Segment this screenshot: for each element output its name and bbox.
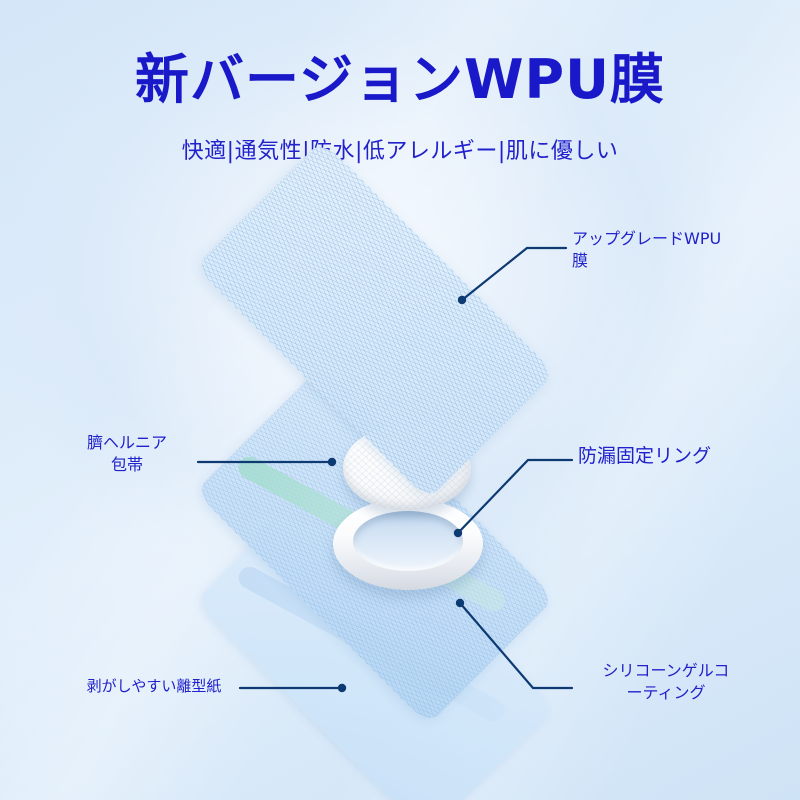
callout-label-hernia: 臍ヘルニア 包帯 <box>62 432 192 476</box>
exploded-product-diagram: アップグレードWPU 膜 臍ヘルニア 包帯 防漏固定リング シリコーンゲルコ ー… <box>0 0 800 800</box>
callout-label-leakproof-ring: 防漏固定リング <box>578 443 768 469</box>
ring-inner-hole <box>353 511 463 571</box>
callout-label-silicone-gel: シリコーンゲルコ ーティング <box>578 660 754 704</box>
callout-label-wpu-film: アップグレードWPU 膜 <box>572 228 748 272</box>
infographic-canvas: 新バージョンWPU膜 快適|通気性|防水|低アレルギー|肌に優しい <box>0 0 800 800</box>
leader-line-wpu-film <box>462 248 566 300</box>
leakproof-fixing-ring <box>333 498 483 590</box>
callout-label-release-paper: 剥がしやすい離型紙 <box>74 676 234 697</box>
